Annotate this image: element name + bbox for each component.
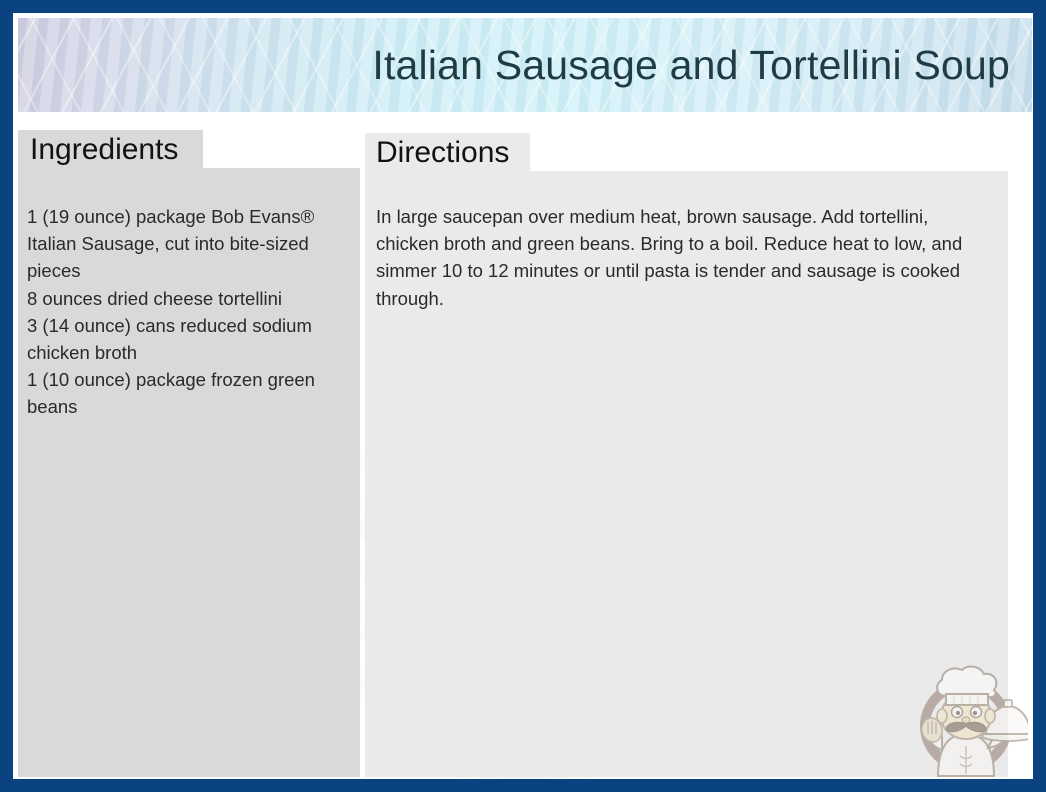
- directions-text: In large saucepan over medium heat, brow…: [376, 203, 990, 312]
- recipe-title: Italian Sausage and Tortellini Soup: [372, 45, 1010, 86]
- directions-heading: Directions: [376, 138, 509, 168]
- ingredients-heading: Ingredients: [30, 135, 178, 165]
- list-item: 3 (14 ounce) cans reduced sodium chicken…: [27, 312, 361, 366]
- ingredients-list: 1 (19 ounce) package Bob Evans® Italian …: [27, 203, 361, 421]
- ingredients-tab: Ingredients: [18, 130, 203, 169]
- list-item: 8 ounces dried cheese tortellini: [27, 285, 361, 312]
- list-item: 1 (19 ounce) package Bob Evans® Italian …: [27, 203, 361, 285]
- directions-tab: Directions: [365, 133, 530, 172]
- list-item: 1 (10 ounce) package frozen green beans: [27, 366, 361, 420]
- title-banner: Italian Sausage and Tortellini Soup: [18, 18, 1032, 112]
- chef-mascot-icon: [908, 658, 1028, 778]
- recipe-card: Italian Sausage and Tortellini Soup: [0, 0, 1046, 792]
- ingredients-panel: 1 (19 ounce) package Bob Evans® Italian …: [18, 168, 360, 777]
